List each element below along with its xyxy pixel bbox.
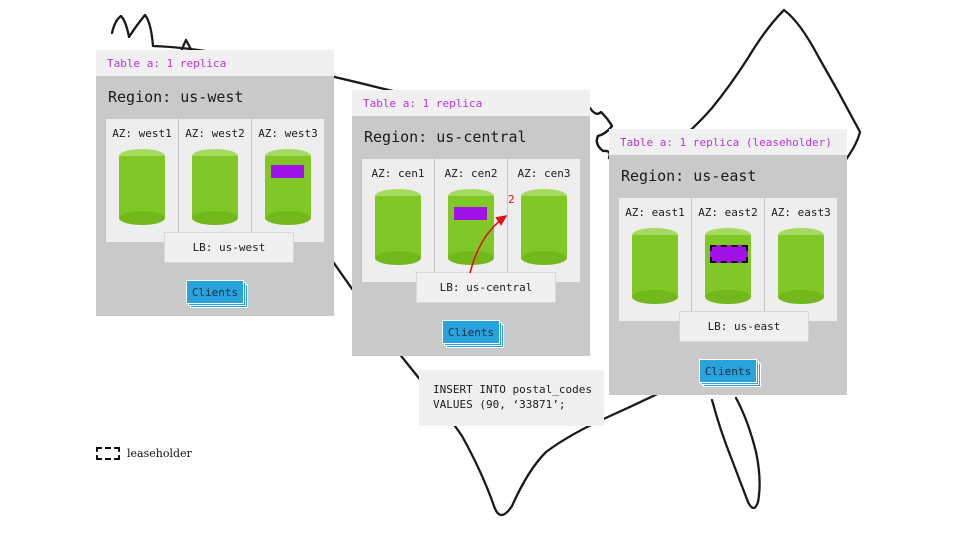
load-balancer-us-west[interactable]: LB: us-west bbox=[164, 232, 294, 263]
az-row-us-west: AZ: west1 AZ: west2 AZ bbox=[106, 119, 324, 242]
az-cell-east3[interactable]: AZ: east3 bbox=[764, 198, 837, 321]
cylinder-bottom-west3 bbox=[265, 211, 311, 225]
replica-block-west3[interactable] bbox=[271, 165, 304, 178]
az-cell-west1[interactable]: AZ: west1 bbox=[106, 119, 178, 242]
region-title-us-east: Region: us-east bbox=[619, 155, 837, 198]
node-cylinder-east3[interactable] bbox=[778, 228, 824, 304]
node-cylinder-cen1[interactable] bbox=[375, 189, 421, 265]
clients-label-us-west: Clients bbox=[186, 280, 244, 304]
az-cell-cen3[interactable]: AZ: cen3 bbox=[507, 159, 580, 282]
clients-us-east[interactable]: Clients bbox=[699, 359, 761, 385]
region-header-us-west: Table a: 1 replica bbox=[96, 50, 334, 76]
region-panel-us-central: Table a: 1 replica Region: us-central AZ… bbox=[352, 90, 590, 356]
cylinder-bottom-east1 bbox=[632, 290, 678, 304]
region-title-us-west: Region: us-west bbox=[106, 76, 324, 119]
az-label-east1: AZ: east1 bbox=[625, 206, 685, 219]
az-cell-east1[interactable]: AZ: east1 bbox=[619, 198, 691, 321]
node-cylinder-west1[interactable] bbox=[119, 149, 165, 225]
cylinder-body-west1 bbox=[119, 156, 165, 218]
cylinder-bottom-cen1 bbox=[375, 251, 421, 265]
clients-label-us-central: Clients bbox=[442, 320, 500, 344]
legend: leaseholder bbox=[96, 447, 192, 460]
cylinder-body-cen3 bbox=[521, 196, 567, 258]
az-label-cen2: AZ: cen2 bbox=[445, 167, 498, 180]
cylinder-body-cen1 bbox=[375, 196, 421, 258]
az-cell-west3[interactable]: AZ: west3 bbox=[251, 119, 324, 242]
node-cylinder-cen2[interactable] bbox=[448, 189, 494, 265]
leaseholder-swatch-icon bbox=[96, 447, 120, 460]
az-label-cen1: AZ: cen1 bbox=[372, 167, 425, 180]
cylinder-body-east3 bbox=[778, 235, 824, 297]
cylinder-bottom-east3 bbox=[778, 290, 824, 304]
cylinder-bottom-west2 bbox=[192, 211, 238, 225]
arrow-step-label: 2 bbox=[508, 193, 515, 206]
az-cell-cen2[interactable]: AZ: cen2 bbox=[434, 159, 507, 282]
az-label-west3: AZ: west3 bbox=[258, 127, 318, 140]
az-cell-cen1[interactable]: AZ: cen1 bbox=[362, 159, 434, 282]
node-cylinder-cen3[interactable] bbox=[521, 189, 567, 265]
node-cylinder-east2[interactable] bbox=[705, 228, 751, 304]
clients-us-west[interactable]: Clients bbox=[186, 280, 248, 306]
az-row-us-central: AZ: cen1 AZ: cen2 bbox=[362, 159, 580, 282]
az-cell-west2[interactable]: AZ: west2 bbox=[178, 119, 251, 242]
node-cylinder-west2[interactable] bbox=[192, 149, 238, 225]
clients-label-us-east: Clients bbox=[699, 359, 757, 383]
sql-statement-box: INSERT INTO postal_codes VALUES (90, ‘33… bbox=[419, 370, 604, 426]
region-header-us-central: Table a: 1 replica bbox=[352, 90, 590, 116]
az-label-east3: AZ: east3 bbox=[771, 206, 831, 219]
cylinder-bottom-east2 bbox=[705, 290, 751, 304]
az-label-east2: AZ: east2 bbox=[698, 206, 758, 219]
cylinder-bottom-cen3 bbox=[521, 251, 567, 265]
replica-block-cen2[interactable] bbox=[454, 207, 487, 220]
region-header-us-east: Table a: 1 replica (leaseholder) bbox=[609, 129, 847, 155]
node-cylinder-west3[interactable] bbox=[265, 149, 311, 225]
load-balancer-us-central[interactable]: LB: us-central bbox=[416, 272, 556, 303]
az-label-cen3: AZ: cen3 bbox=[518, 167, 571, 180]
replica-block-east2-leaseholder[interactable] bbox=[710, 245, 748, 263]
region-title-us-central: Region: us-central bbox=[362, 116, 580, 159]
cylinder-bottom-cen2 bbox=[448, 251, 494, 265]
cylinder-bottom-west1 bbox=[119, 211, 165, 225]
az-cell-east2[interactable]: AZ: east2 bbox=[691, 198, 764, 321]
clients-us-central[interactable]: Clients bbox=[442, 320, 504, 346]
region-panel-us-east: Table a: 1 replica (leaseholder) Region:… bbox=[609, 129, 847, 395]
load-balancer-us-east[interactable]: LB: us-east bbox=[679, 311, 809, 342]
region-panel-us-west: Table a: 1 replica Region: us-west AZ: w… bbox=[96, 50, 334, 316]
diagram-canvas: Table a: 1 replica Region: us-west AZ: w… bbox=[0, 0, 960, 540]
cylinder-body-cen2 bbox=[448, 196, 494, 258]
az-label-west1: AZ: west1 bbox=[112, 127, 172, 140]
node-cylinder-east1[interactable] bbox=[632, 228, 678, 304]
cylinder-body-west2 bbox=[192, 156, 238, 218]
cylinder-body-east1 bbox=[632, 235, 678, 297]
legend-label-leaseholder: leaseholder bbox=[127, 447, 192, 460]
az-row-us-east: AZ: east1 AZ: east2 bbox=[619, 198, 837, 321]
az-label-west2: AZ: west2 bbox=[185, 127, 245, 140]
